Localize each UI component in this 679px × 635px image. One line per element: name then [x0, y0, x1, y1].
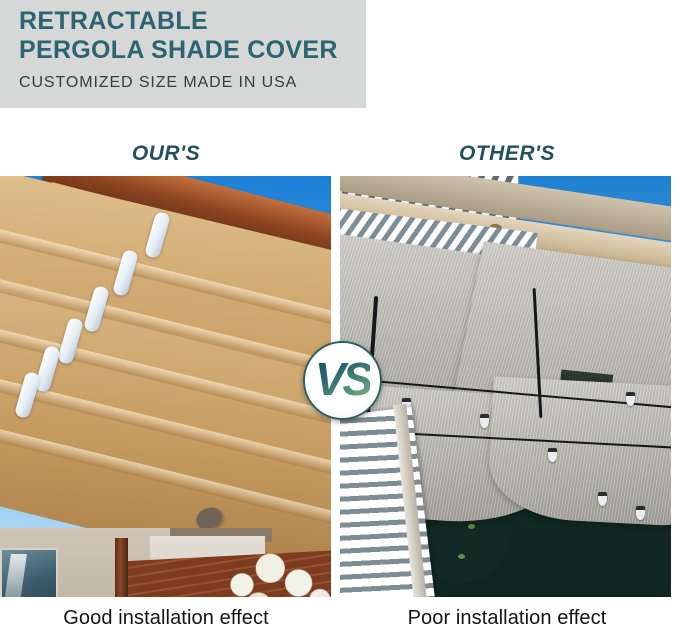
- comparison-heading-ours: OUR'S: [0, 142, 332, 166]
- string-light-bulb: [598, 492, 607, 506]
- string-light-bulb: [480, 414, 489, 428]
- flowering-tree: [216, 548, 331, 597]
- photo-ours: [0, 176, 331, 597]
- vs-badge: VS: [303, 341, 382, 420]
- leaf-highlight: [468, 524, 475, 529]
- string-light-bulb: [548, 448, 557, 462]
- banner-title-line2: PERGOLA SHADE COVER: [19, 36, 366, 65]
- string-light-bulb: [626, 392, 635, 406]
- string-light-bulb: [636, 506, 645, 520]
- photo-ours-scene: [0, 176, 331, 597]
- banner-title-line1: RETRACTABLE: [19, 7, 366, 36]
- vs-label: VS: [315, 356, 370, 405]
- caption-poor-installation: Poor installation effect: [344, 607, 670, 630]
- pergola-post: [115, 538, 128, 597]
- header-banner: RETRACTABLE PERGOLA SHADE COVER CUSTOMIZ…: [0, 0, 366, 108]
- caption-good-installation: Good installation effect: [0, 607, 332, 630]
- photo-others: [340, 176, 671, 597]
- comparison-heading-others: OTHER'S: [344, 142, 670, 166]
- banner-subtitle: CUSTOMIZED SIZE MADE IN USA: [19, 74, 366, 92]
- photo-others-scene: [340, 176, 671, 597]
- leaf-highlight: [458, 554, 465, 559]
